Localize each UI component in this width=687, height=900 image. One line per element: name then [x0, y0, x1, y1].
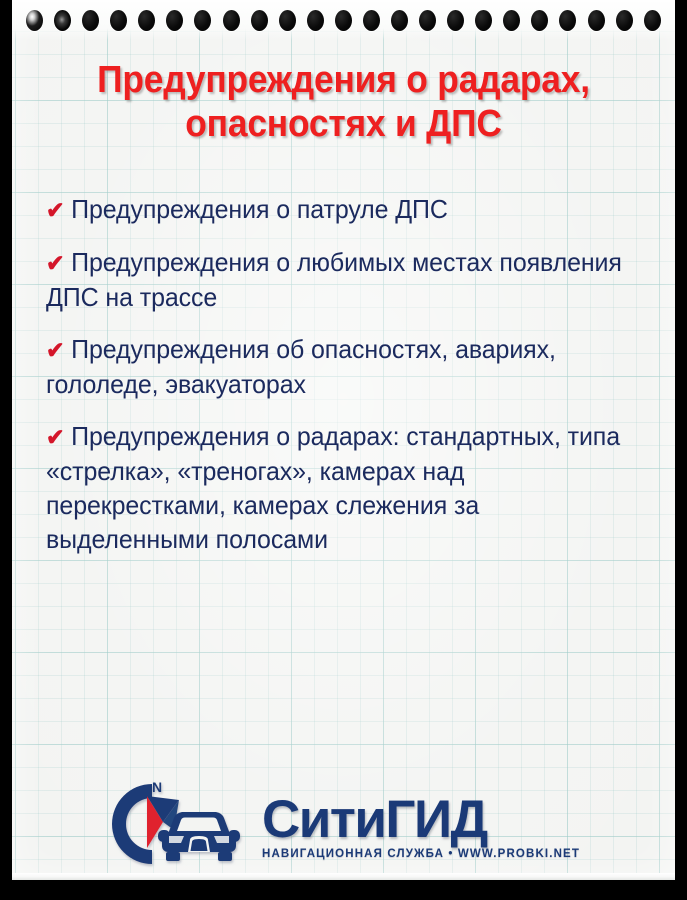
list-item-label: Предупреждения о любимых местах появлени… — [46, 247, 622, 312]
list-item: ✔Предупреждения об опасностях, авариях, … — [46, 332, 632, 401]
binder-hole — [531, 10, 548, 31]
checkmark-icon: ✔ — [46, 197, 64, 223]
binder-hole — [110, 10, 127, 31]
binder-hole — [335, 10, 352, 31]
binder-hole — [138, 10, 155, 31]
checkmark-icon: ✔ — [46, 337, 64, 363]
checkmark-icon: ✔ — [46, 424, 64, 450]
list-item-label: Предупреждения об опасностях, авариях, г… — [46, 334, 556, 399]
binder-hole — [588, 10, 605, 31]
list-item: ✔Предупреждения о радарах: стандартных, … — [46, 419, 632, 556]
binder-hole — [166, 10, 183, 31]
binder-hole — [419, 10, 436, 31]
binder-hole — [503, 10, 520, 31]
page-title: Предупреждения о радарах, опасностях и Д… — [35, 58, 652, 146]
binder-hole — [616, 10, 633, 31]
binder-holes-strip — [12, 0, 675, 40]
binder-hole — [54, 10, 71, 31]
binder-hole — [194, 10, 211, 31]
binder-hole — [559, 10, 576, 31]
binder-hole — [447, 10, 464, 31]
binder-hole — [307, 10, 324, 31]
binder-hole — [279, 10, 296, 31]
compass-car-icon: N — [90, 774, 260, 874]
citygid-logo-icon: N — [90, 774, 260, 874]
list-item-label: Предупреждения о патруле ДПС — [71, 194, 448, 224]
binder-hole — [475, 10, 492, 31]
c-ring-shape — [112, 784, 152, 864]
binder-hole — [391, 10, 408, 31]
binder-hole — [26, 10, 43, 31]
list-item: ✔Предупреждения о патруле ДПС — [46, 192, 632, 227]
checkmark-icon: ✔ — [46, 250, 64, 276]
brand-name: СитиГИД — [262, 793, 602, 847]
binder-hole — [251, 10, 268, 31]
binder-hole — [223, 10, 240, 31]
brand-tagline: НАВИГАЦИОННАЯ СЛУЖБА • WWW.PROBKI.NET — [262, 848, 602, 860]
list-item-label: Предупреждения о радарах: стандартных, т… — [46, 421, 620, 554]
title-line-2: опасностях и ДПС — [35, 102, 652, 146]
binder-hole — [363, 10, 380, 31]
binder-hole — [82, 10, 99, 31]
binder-hole — [644, 10, 661, 31]
title-line-1: Предупреждения о радарах, — [35, 58, 652, 102]
list-item: ✔Предупреждения о любимых местах появлен… — [46, 245, 632, 314]
brand-wordmark-block: СитиГИД НАВИГАЦИОННАЯ СЛУЖБА • WWW.PROBK… — [260, 793, 602, 860]
feature-list: ✔Предупреждения о патруле ДПС ✔Предупреж… — [46, 192, 656, 574]
brand-logo: N — [90, 772, 602, 876]
poster-canvas: Предупреждения о радарах, опасностях и Д… — [0, 0, 687, 900]
compass-north-label: N — [152, 779, 162, 795]
